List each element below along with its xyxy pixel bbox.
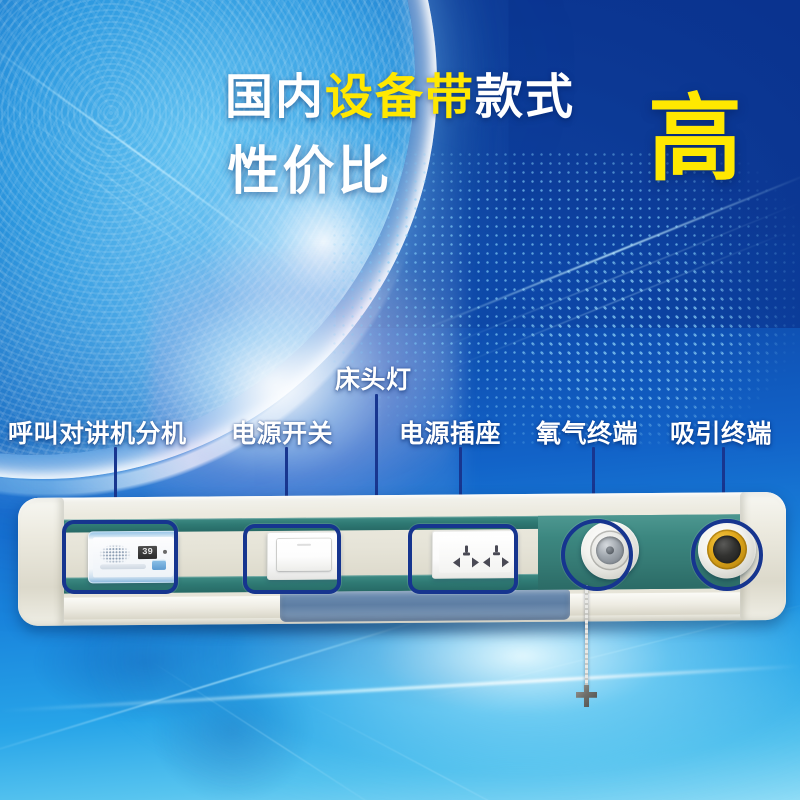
callout-label-bed-head-light: 床头灯 [335, 360, 412, 396]
callout-box-nurse-call-intercom [62, 520, 178, 594]
callout-label-power-switch: 电源开关 [231, 414, 333, 450]
poster-canvas: 国内设备带款式 性价比 高 呼叫对讲机分机 电源开关 床头灯 电源插座 氧气终端… [0, 0, 800, 800]
headline-text-equipment-belt: 设备带 [325, 71, 475, 124]
callout-label-oxygen-terminal: 氧气终端 [536, 414, 638, 450]
headline-block: 国内设备带款式 性价比 高 [0, 74, 800, 198]
callout-box-power-switch [243, 524, 341, 594]
panel-endcap-left [18, 498, 64, 626]
callout-label-suction-terminal: 吸引终端 [670, 414, 772, 450]
callout-box-suction-terminal [691, 519, 763, 591]
callout-label-nurse-call-intercom: 呼叫对讲机分机 [8, 414, 187, 450]
callout-label-power-socket: 电源插座 [399, 414, 501, 450]
headline-text-style: 款式 [475, 71, 575, 124]
headline-text-domestic: 国内 [225, 71, 325, 124]
callout-box-oxygen-terminal [561, 519, 633, 591]
headline-emphasis-high: 高 [648, 92, 742, 186]
bed-head-light-diffuser [280, 590, 570, 622]
callout-box-power-socket [408, 524, 518, 594]
pull-cord[interactable] [585, 585, 588, 690]
